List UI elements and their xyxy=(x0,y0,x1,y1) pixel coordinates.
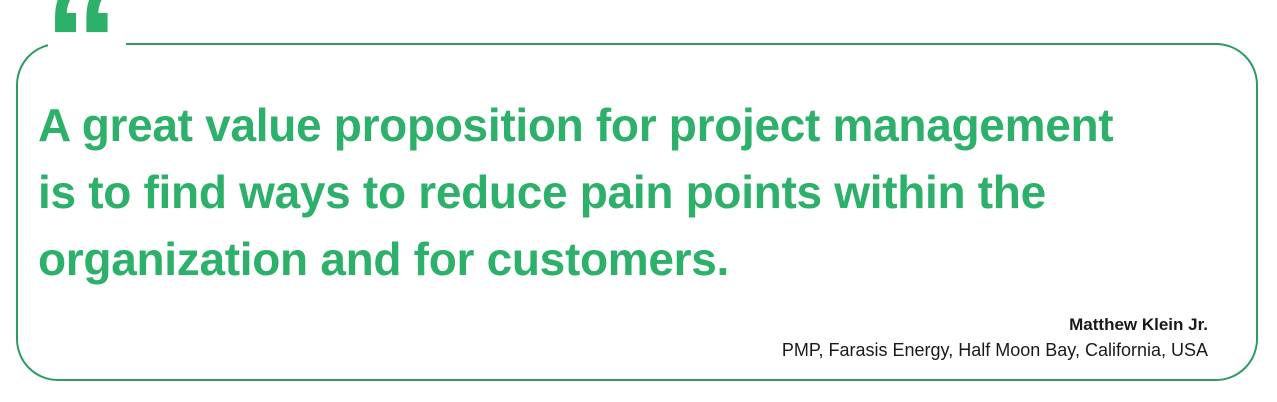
pull-quote-callout: “ A great value proposition for project … xyxy=(0,0,1277,402)
attribution: Matthew Klein Jr. PMP, Farasis Energy, H… xyxy=(782,312,1208,363)
quote-body: A great value proposition for project ma… xyxy=(38,92,1228,293)
quote-text: A great value proposition for project ma… xyxy=(38,92,1228,293)
attribution-name: Matthew Klein Jr. xyxy=(782,312,1208,337)
attribution-detail: PMP, Farasis Energy, Half Moon Bay, Cali… xyxy=(782,337,1208,363)
